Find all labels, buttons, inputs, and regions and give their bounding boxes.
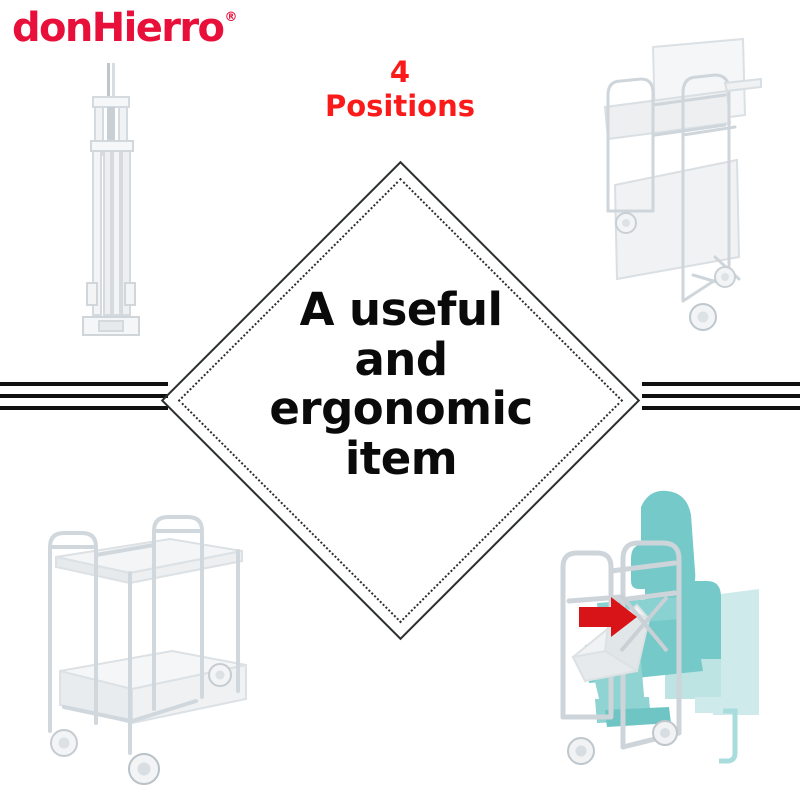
product-image-open <box>20 485 275 785</box>
brand-name: donHierro <box>12 8 223 48</box>
rule-line <box>0 394 168 398</box>
registered-trademark-icon: ® <box>224 11 237 24</box>
infographic-canvas: donHierro ® 4 Positions A useful and erg… <box>0 0 800 800</box>
rule-line <box>0 382 168 386</box>
rule-line <box>0 406 168 410</box>
center-slogan-line-3: ergonomic <box>181 384 621 434</box>
rule-line <box>642 382 800 386</box>
center-slogan-line-2: and <box>181 335 621 385</box>
product-image-in-use <box>545 485 800 790</box>
product-image-folded <box>55 55 175 355</box>
center-slogan-line-1: A useful <box>181 285 621 335</box>
product-image-half-folded <box>575 35 800 345</box>
rule-line <box>642 406 800 410</box>
center-slogan-line-4: item <box>181 434 621 484</box>
rule-line <box>642 394 800 398</box>
right-rule-group <box>642 382 800 418</box>
brand-logo: donHierro ® <box>12 8 237 48</box>
left-rule-group <box>0 382 168 418</box>
center-slogan: A useful and ergonomic item <box>181 285 621 483</box>
